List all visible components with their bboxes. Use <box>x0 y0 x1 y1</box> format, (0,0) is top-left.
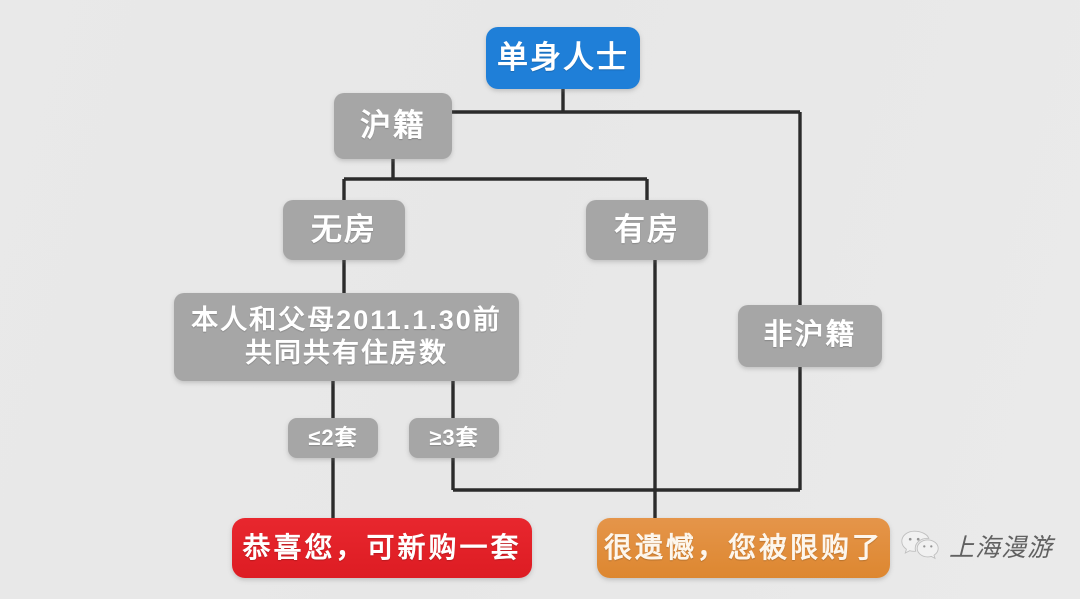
flowchart-edges <box>0 0 1080 599</box>
node-no-house[interactable]: 无房 <box>283 200 405 260</box>
result-restricted[interactable]: 很遗憾，您被限购了 <box>597 518 890 578</box>
node-has-house[interactable]: 有房 <box>586 200 708 260</box>
node-shanghai-hukou[interactable]: 沪籍 <box>334 93 452 159</box>
watermark-account-name: 上海漫游 <box>949 528 1053 564</box>
result-eligible[interactable]: 恭喜您，可新购一套 <box>232 518 532 578</box>
branch-label-le-2[interactable]: ≤2套 <box>288 418 378 458</box>
branch-label-ge-3[interactable]: ≥3套 <box>409 418 499 458</box>
flowchart-canvas: 单身人士 沪籍 无房 有房 非沪籍 本人和父母2011.1.30前 共同共有住房… <box>0 0 1080 599</box>
node-single-person[interactable]: 单身人士 <box>486 27 640 89</box>
wechat-icon <box>900 529 940 563</box>
node-house-count-condition[interactable]: 本人和父母2011.1.30前 共同共有住房数 <box>174 293 519 381</box>
watermark: 上海漫游 <box>900 528 1053 564</box>
node-non-shanghai-hukou[interactable]: 非沪籍 <box>738 305 882 367</box>
